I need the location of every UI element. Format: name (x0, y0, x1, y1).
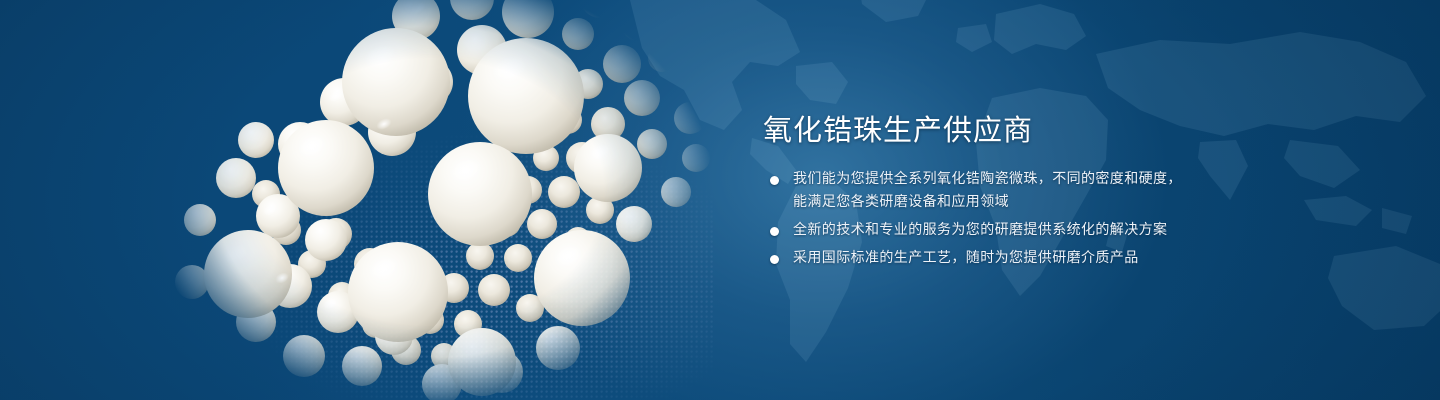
list-item: 采用国际标准的生产工艺，随时为您提供研磨介质产品 (766, 247, 1386, 270)
banner-text-block: 氧化锆珠生产供应商 我们能为您提供全系列氧化锆陶瓷微珠，不同的密度和硬度， 能满… (763, 0, 1403, 400)
list-item-line: 我们能为您提供全系列氧化锆陶瓷微珠，不同的密度和硬度， (793, 168, 1386, 191)
list-item-line: 全新的技术和专业的服务为您的研磨提供系统化的解决方案 (793, 219, 1386, 242)
bullet-dot-icon (770, 255, 779, 264)
banner-headline: 氧化锆珠生产供应商 (763, 110, 1033, 150)
zirconia-bead-cluster-photo (130, 0, 730, 400)
list-item-line: 采用国际标准的生产工艺，随时为您提供研磨介质产品 (793, 247, 1386, 270)
list-item: 我们能为您提供全系列氧化锆陶瓷微珠，不同的密度和硬度， 能满足您各类研磨设备和应… (766, 168, 1386, 214)
hero-banner: 氧化锆珠生产供应商 我们能为您提供全系列氧化锆陶瓷微珠，不同的密度和硬度， 能满… (0, 0, 1440, 400)
banner-feature-list: 我们能为您提供全系列氧化锆陶瓷微珠，不同的密度和硬度， 能满足您各类研磨设备和应… (766, 168, 1386, 270)
list-item-line: 能满足您各类研磨设备和应用领域 (793, 191, 1386, 214)
bullet-dot-icon (770, 176, 779, 185)
bullet-dot-icon (770, 227, 779, 236)
list-item: 全新的技术和专业的服务为您的研磨提供系统化的解决方案 (766, 219, 1386, 242)
